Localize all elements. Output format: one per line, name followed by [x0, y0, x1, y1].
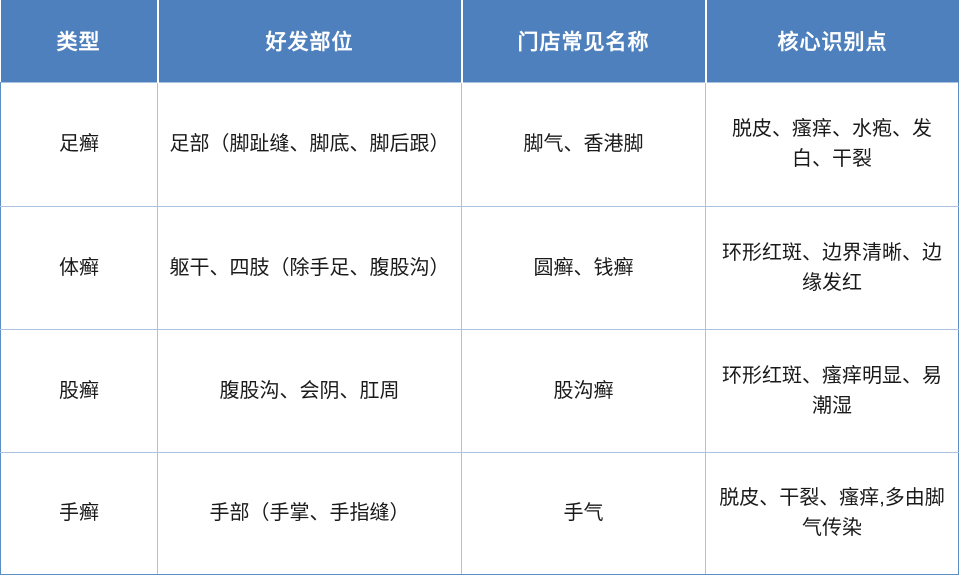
header-row: 类型 好发部位 门店常见名称 核心识别点	[1, 0, 959, 82]
table-header: 类型 好发部位 门店常见名称 核心识别点	[1, 0, 959, 82]
table-row: 手癣 手部（手掌、手指缝） 手气 脱皮、干裂、瘙痒,多由脚气传染	[1, 452, 959, 574]
cell-site: 躯干、四肢（除手足、腹股沟）	[158, 206, 462, 329]
cell-features: 环形红斑、瘙痒明显、易潮湿	[706, 329, 959, 452]
table-row: 体癣 躯干、四肢（除手足、腹股沟） 圆癣、钱癣 环形红斑、边界清晰、边缘发红	[1, 206, 959, 329]
cell-alias: 圆癣、钱癣	[462, 206, 706, 329]
column-header-site: 好发部位	[158, 0, 462, 82]
cell-type: 股癣	[1, 329, 158, 452]
cell-type: 手癣	[1, 452, 158, 574]
table-row: 股癣 腹股沟、会阴、肛周 股沟癣 环形红斑、瘙痒明显、易潮湿	[1, 329, 959, 452]
cell-type: 体癣	[1, 206, 158, 329]
table-sheet: 类型 好发部位 门店常见名称 核心识别点 足癣 足部（脚趾缝、脚底、脚后跟） 脚…	[0, 0, 968, 582]
table-body: 足癣 足部（脚趾缝、脚底、脚后跟） 脚气、香港脚 脱皮、瘙痒、水疱、发白、干裂 …	[1, 82, 959, 574]
table-row: 足癣 足部（脚趾缝、脚底、脚后跟） 脚气、香港脚 脱皮、瘙痒、水疱、发白、干裂	[1, 82, 959, 206]
cell-site: 足部（脚趾缝、脚底、脚后跟）	[158, 82, 462, 206]
cell-features: 脱皮、瘙痒、水疱、发白、干裂	[706, 82, 959, 206]
cell-alias: 手气	[462, 452, 706, 574]
column-header-features: 核心识别点	[706, 0, 959, 82]
cell-alias: 脚气、香港脚	[462, 82, 706, 206]
tinea-comparison-table: 类型 好发部位 门店常见名称 核心识别点 足癣 足部（脚趾缝、脚底、脚后跟） 脚…	[0, 0, 959, 575]
cell-type: 足癣	[1, 82, 158, 206]
cell-features: 环形红斑、边界清晰、边缘发红	[706, 206, 959, 329]
column-header-alias: 门店常见名称	[462, 0, 706, 82]
cell-alias: 股沟癣	[462, 329, 706, 452]
cell-site: 腹股沟、会阴、肛周	[158, 329, 462, 452]
cell-site: 手部（手掌、手指缝）	[158, 452, 462, 574]
cell-features: 脱皮、干裂、瘙痒,多由脚气传染	[706, 452, 959, 574]
column-header-type: 类型	[1, 0, 158, 82]
